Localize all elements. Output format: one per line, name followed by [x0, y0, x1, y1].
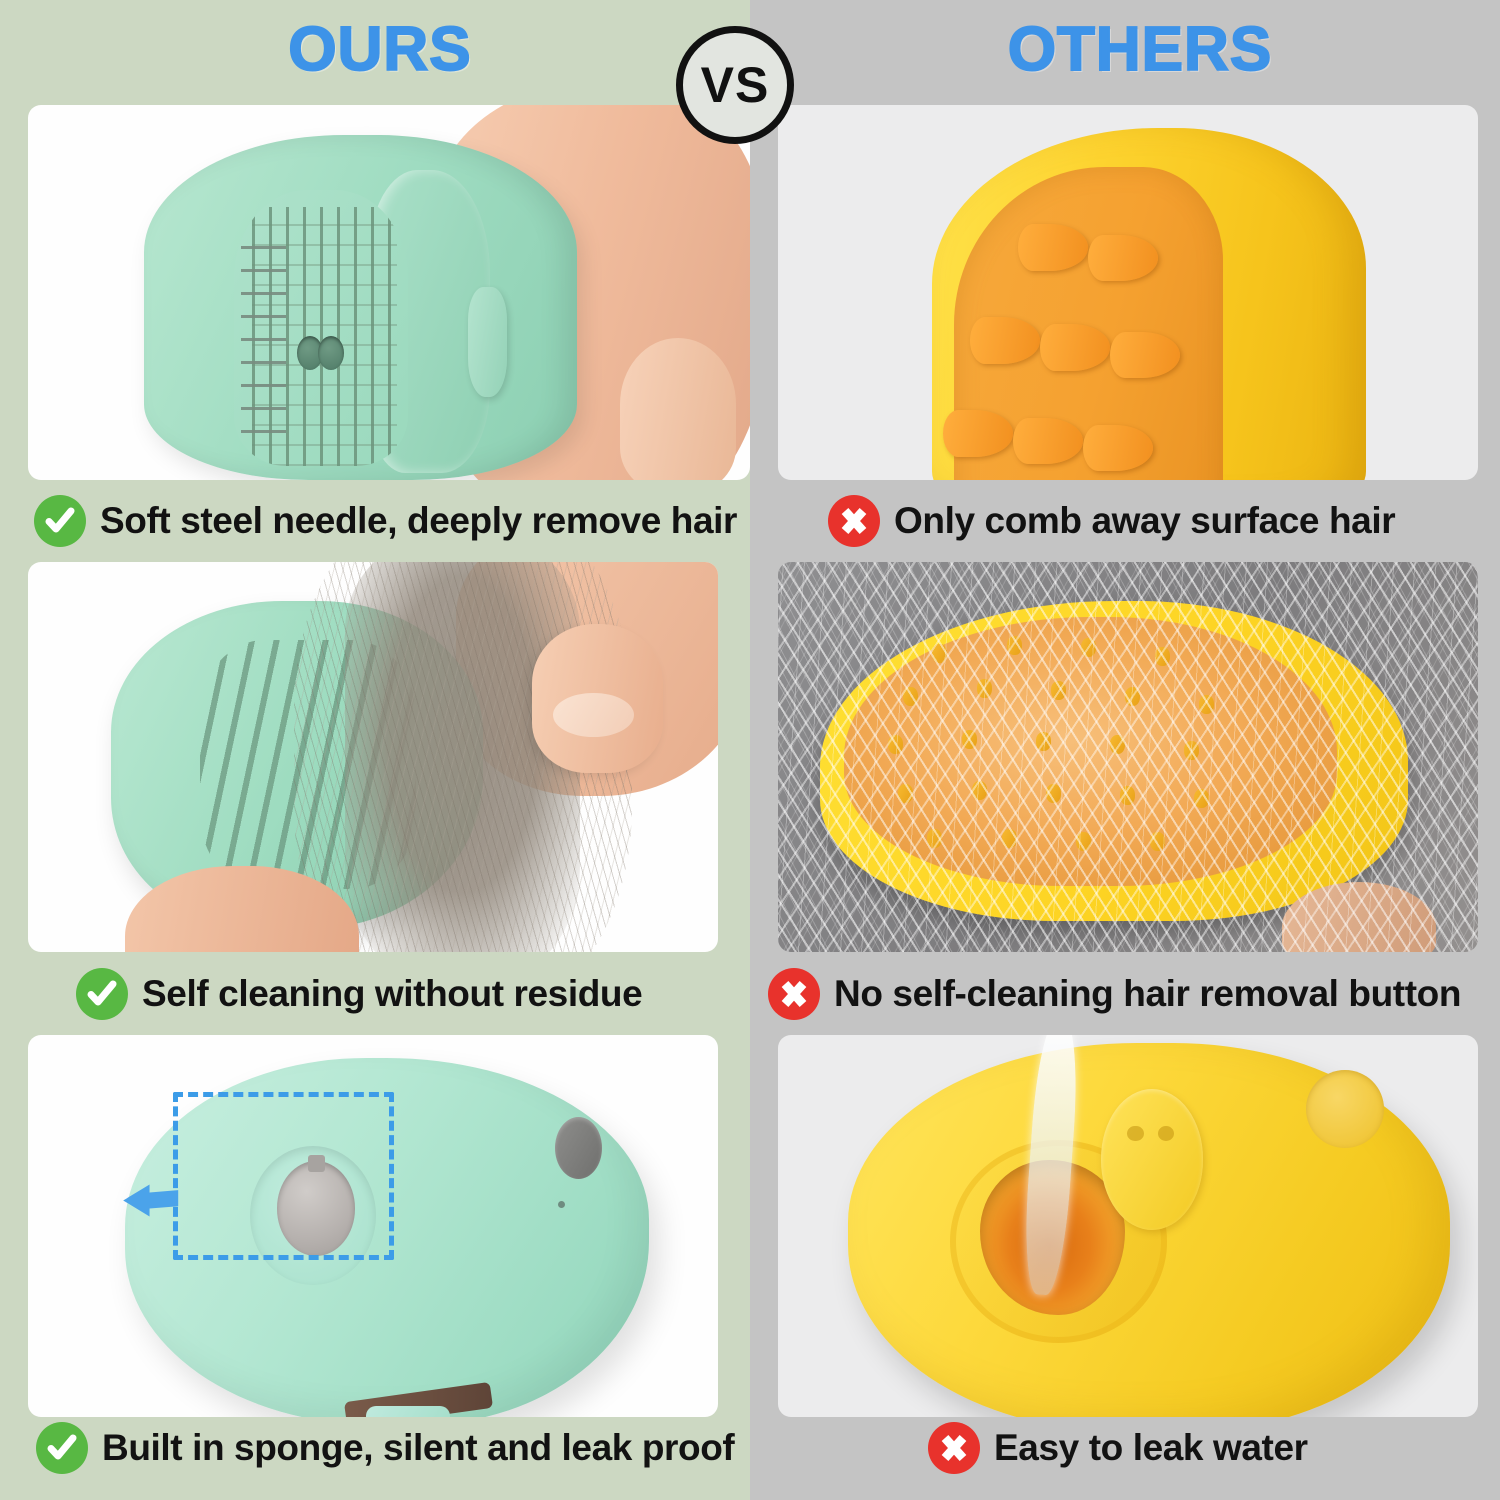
others-caption-1: Only comb away surface hair [828, 495, 1395, 547]
cross-icon [768, 968, 820, 1020]
ours-photo-1 [28, 105, 750, 480]
cross-icon [928, 1422, 980, 1474]
highlight-box [173, 1092, 394, 1260]
ours-photo-2 [28, 562, 718, 952]
others-caption-2-label: No self-cleaning hair removal button [834, 973, 1461, 1015]
others-photo-2 [778, 562, 1478, 952]
others-photo-3 [778, 1035, 1478, 1417]
ours-caption-3-label: Built in sponge, silent and leak proof [102, 1427, 734, 1469]
check-icon [34, 495, 86, 547]
cross-icon [828, 495, 880, 547]
vs-badge: VS [676, 26, 794, 144]
others-caption-2: No self-cleaning hair removal button [768, 968, 1461, 1020]
others-heading: OTHERS [860, 14, 1420, 85]
others-caption-1-label: Only comb away surface hair [894, 500, 1395, 542]
ours-caption-3: Built in sponge, silent and leak proof [36, 1422, 734, 1474]
others-photo-1 [778, 105, 1478, 480]
ours-photo-3 [28, 1035, 718, 1417]
ours-caption-1-label: Soft steel needle, deeply remove hair [100, 500, 737, 542]
comparison-infographic: OURS OTHERS VS [0, 0, 1500, 1500]
others-caption-3: Easy to leak water [928, 1422, 1308, 1474]
ours-caption-2: Self cleaning without residue [76, 968, 642, 1020]
ours-caption-1: Soft steel needle, deeply remove hair [34, 495, 737, 547]
ours-caption-2-label: Self cleaning without residue [142, 973, 642, 1015]
pointer-arrow-icon [107, 1173, 197, 1219]
others-caption-3-label: Easy to leak water [994, 1427, 1308, 1469]
ours-heading: OURS [120, 14, 640, 85]
check-icon [36, 1422, 88, 1474]
check-icon [76, 968, 128, 1020]
